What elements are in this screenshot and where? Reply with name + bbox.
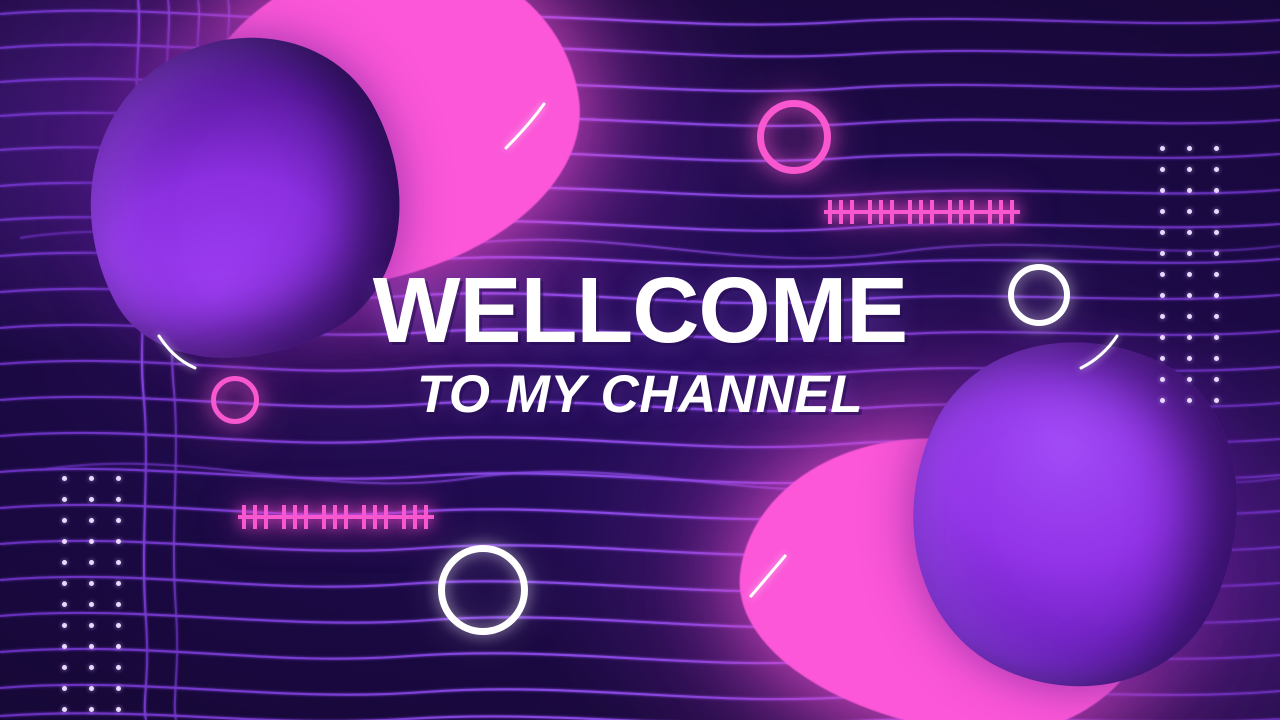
grid-dot (62, 686, 67, 691)
tally-marks-bottom-icon (236, 500, 436, 534)
grid-dot (89, 497, 94, 502)
circle-outline-white-bottom-icon (438, 545, 528, 635)
grid-dot (1214, 251, 1219, 256)
grid-dot (1187, 167, 1192, 172)
grid-dot (62, 581, 67, 586)
banner-text-block: WELLCOME TO MY CHANNEL (0, 268, 1280, 421)
grid-dot (1160, 230, 1165, 235)
grid-dot (1187, 146, 1192, 151)
grid-dot (116, 560, 121, 565)
grid-dot (1160, 251, 1165, 256)
tally-marks-top-icon (822, 195, 1022, 229)
grid-dot (62, 476, 67, 481)
grid-dot (116, 539, 121, 544)
grid-dot (89, 644, 94, 649)
grid-dot (116, 707, 121, 712)
grid-dot (1160, 146, 1165, 151)
grid-dot (89, 518, 94, 523)
grid-dot (1214, 167, 1219, 172)
grid-dot (62, 707, 67, 712)
grid-dot (1214, 146, 1219, 151)
grid-dot (1160, 209, 1165, 214)
grid-dot (62, 539, 67, 544)
grid-dot (89, 539, 94, 544)
grid-dot (89, 581, 94, 586)
grid-dot (1214, 209, 1219, 214)
grid-dot (89, 707, 94, 712)
grid-dot (116, 476, 121, 481)
grid-dot (1160, 188, 1165, 193)
grid-dot (89, 665, 94, 670)
grid-dot (62, 623, 67, 628)
grid-dot (1187, 188, 1192, 193)
circle-outline-pink-top-icon (757, 100, 831, 174)
grid-dot (116, 581, 121, 586)
grid-dot (62, 560, 67, 565)
grid-dot (62, 644, 67, 649)
grid-dot (62, 665, 67, 670)
grid-dot (116, 497, 121, 502)
grid-dot (1187, 209, 1192, 214)
grid-dot (1214, 188, 1219, 193)
grid-dot (89, 602, 94, 607)
grid-dot (116, 602, 121, 607)
welcome-banner: WELLCOME TO MY CHANNEL (0, 0, 1280, 720)
page-title: WELLCOME (0, 268, 1280, 354)
grid-dot (1187, 251, 1192, 256)
grid-dot (116, 665, 121, 670)
grid-dot (1187, 230, 1192, 235)
grid-dot (1160, 167, 1165, 172)
grid-dot (62, 497, 67, 502)
grid-dot (116, 644, 121, 649)
grid-dot (62, 602, 67, 607)
grid-dot (62, 518, 67, 523)
page-subtitle: TO MY CHANNEL (0, 368, 1280, 421)
grid-dot (116, 518, 121, 523)
grid-dot (89, 476, 94, 481)
grid-dot (1214, 230, 1219, 235)
grid-dot (89, 623, 94, 628)
grid-dot (116, 686, 121, 691)
grid-dot (116, 623, 121, 628)
dot-grid-left (62, 476, 121, 720)
grid-dot (89, 686, 94, 691)
grid-dot (89, 560, 94, 565)
